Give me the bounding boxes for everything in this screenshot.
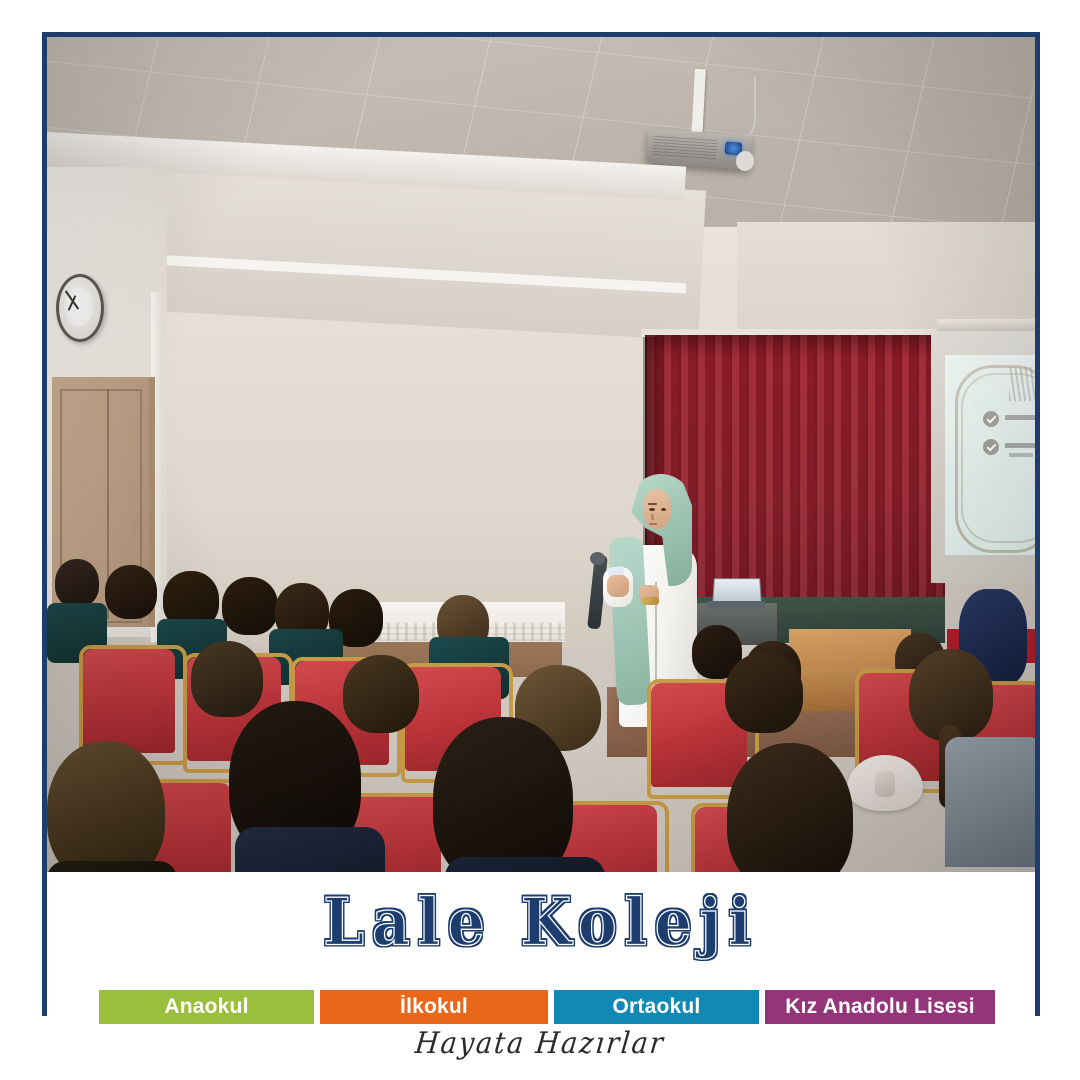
photo-vignette xyxy=(47,37,1035,872)
level-badge-ortaokul[interactable]: Ortaokul xyxy=(554,990,759,1024)
school-levels-bar: Anaokul İlkokul Ortaokul Kız Anadolu Lis… xyxy=(99,990,995,1024)
school-logo-title: Lale Koleji xyxy=(47,884,1035,960)
level-badge-kiz-anadolu-lisesi[interactable]: Kız Anadolu Lisesi xyxy=(765,990,995,1024)
level-badge-anaokul[interactable]: Anaokul xyxy=(99,990,314,1024)
school-tagline: Hayata Hazırlar xyxy=(0,1026,1080,1060)
branding-footer: Lale Koleji Anaokul İlkokul Ortaokul Kız… xyxy=(47,872,1035,1016)
level-badge-ilkokul[interactable]: İlkokul xyxy=(320,990,548,1024)
event-photograph: LA xyxy=(47,37,1035,872)
poster-canvas: LA xyxy=(0,0,1080,1080)
